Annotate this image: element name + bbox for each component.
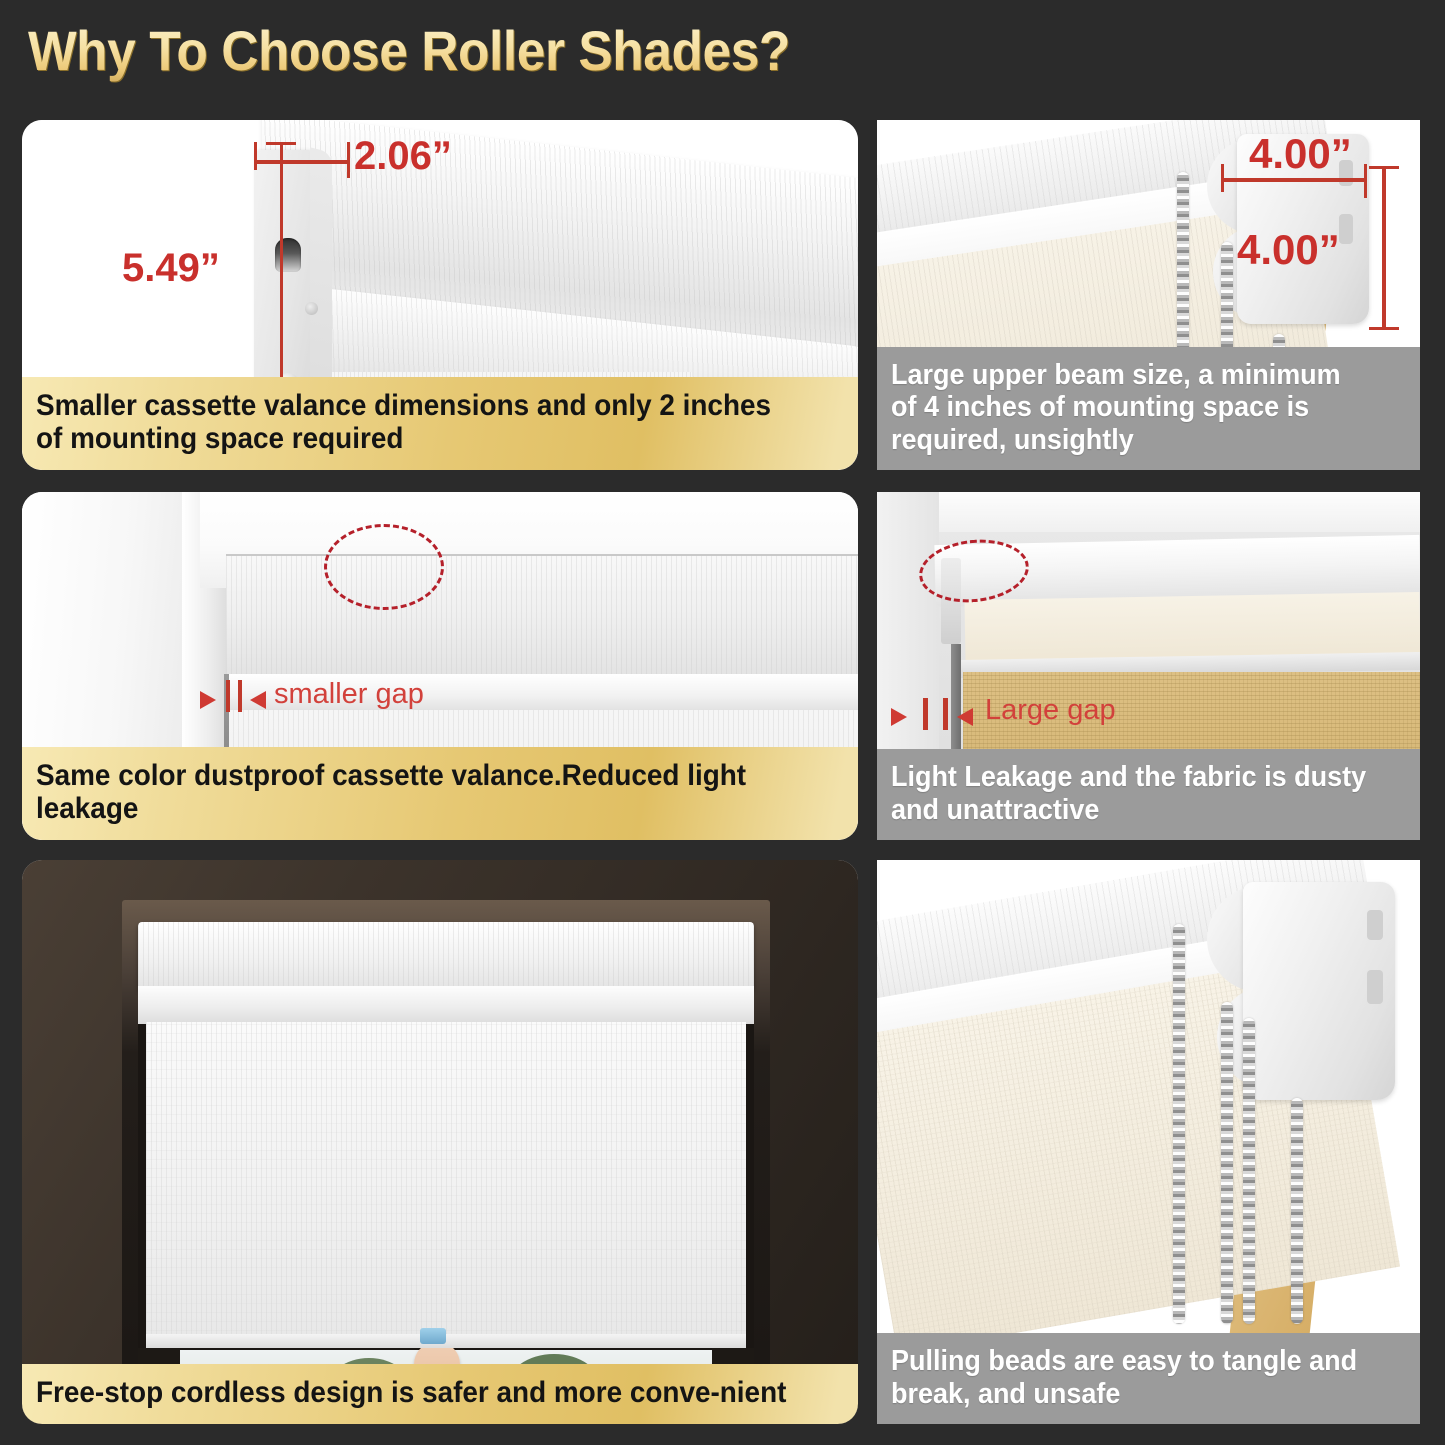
dim-width-tick-right [347,142,350,178]
panel-grid: 2.06” 5.49” Smaller cassette valance dim… [0,0,1445,1445]
bead-chain-right [1291,1098,1303,1324]
gap-tick-left [226,680,230,712]
gap-tick-left [923,698,928,730]
product-photo-room-window [22,860,858,1424]
endcap-screw [305,302,318,315]
cassette-valance-top [138,922,754,990]
dim-width-line [254,160,350,164]
caption-panel-3: Same color dustproof cassette valance.Re… [22,747,858,840]
highlight-ellipse-gap [324,524,444,610]
caption-panel-5: Free-stop cordless design is safer and m… [22,1364,858,1424]
dim-width-tick-left [254,142,257,170]
caption-panel-1: Smaller cassette valance dimensions and … [22,377,858,470]
panel-large-upper-beam: 4.00” 4.00” Large upper beam size, a min… [877,120,1420,470]
bracket-notch-lower [1367,970,1383,1004]
gap-arrow-left [200,691,216,709]
bracket-notch-lower [1339,214,1353,244]
bead-chain-left [1173,924,1185,1324]
panel-cordless-design: Free-stop cordless design is safer and m… [22,860,858,1424]
gap-arrow-right [250,691,266,709]
ceiling-surface [877,492,1420,532]
caption-panel-4: Light Leakage and the fabric is dusty an… [877,749,1420,840]
bead-chain-middle [1221,1002,1233,1324]
dim-beam-width-line [1221,178,1367,182]
gap-tick-right [238,680,242,712]
dim-height-label: 5.49” [122,246,220,291]
dim-height-tick-top [266,142,296,145]
caption-panel-6: Pulling beads are easy to tangle and bre… [877,1333,1420,1424]
pull-tab [420,1328,446,1344]
dim-beam-height-tick-bottom [1369,327,1399,330]
gap-arrow-left [891,708,907,726]
gap-label-smaller: smaller gap [274,678,424,711]
bracket-notch-upper [1367,910,1383,940]
shade-bottom-rail [146,1334,746,1348]
panel-dustproof-cassette: smaller gap Same color dustproof cassett… [22,492,858,840]
dim-width-label: 2.06” [354,134,452,179]
dim-beam-height-label: 4.00” [1237,226,1340,274]
gap-tick-right [943,698,948,730]
bead-chain-middle-2 [1243,1018,1255,1324]
dim-beam-height-line [1382,166,1386,330]
dim-beam-width-label: 4.00” [1249,130,1352,178]
gap-label-large: Large gap [985,694,1116,727]
cassette-valance-lip [138,986,754,1024]
dim-beam-height-tick-top [1369,166,1399,169]
panel-light-leakage: Large gap Light Leakage and the fabric i… [877,492,1420,840]
panel-pulling-beads: Pulling beads are easy to tangle and bre… [877,860,1420,1424]
endcap-slot [275,238,301,272]
dim-beam-width-tick-left [1221,164,1224,192]
caption-panel-2: Large upper beam size, a minimum of 4 in… [877,347,1420,470]
roller-shade-fabric [146,1022,746,1340]
panel-smaller-cassette: 2.06” 5.49” Smaller cassette valance dim… [22,120,858,470]
cassette-valance [226,554,858,676]
dim-beam-width-tick-right [1364,164,1367,198]
gap-arrow-right [957,708,973,726]
